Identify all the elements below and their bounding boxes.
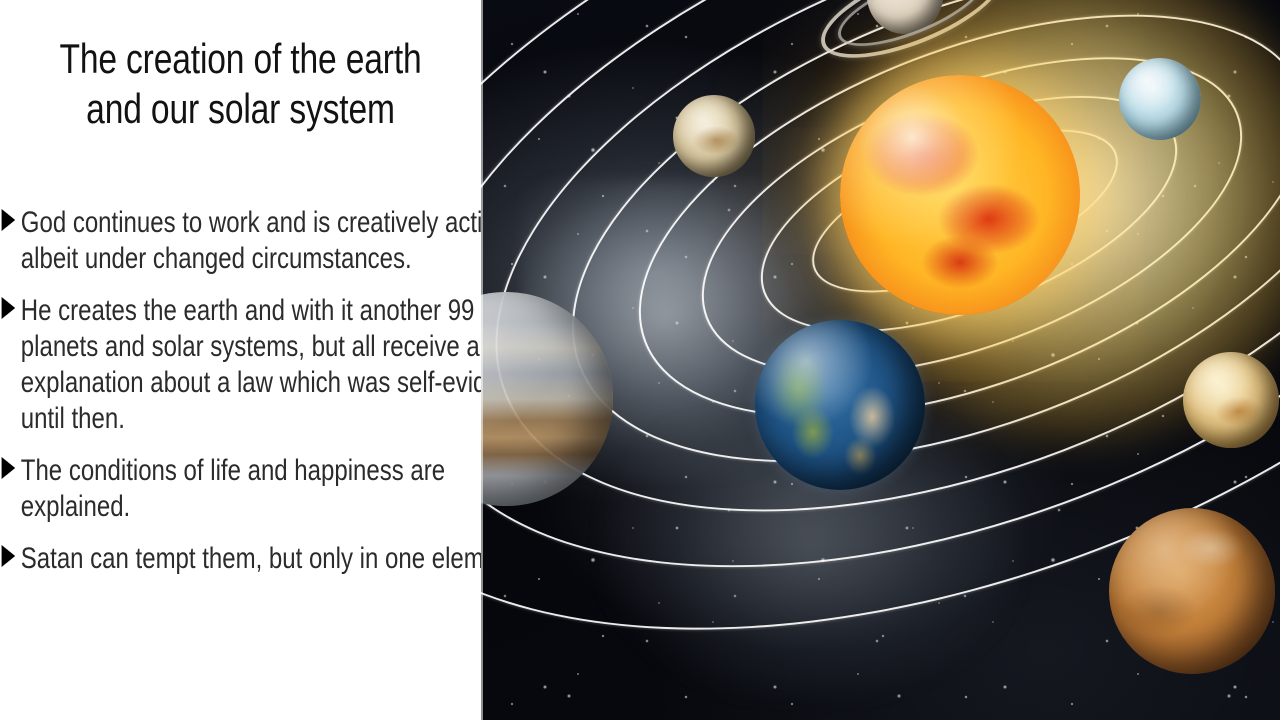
bullet-text-2: He creates the earth and with it another…: [21, 294, 481, 435]
bullet-item-1: God continues to work and is creatively …: [0, 205, 481, 277]
panel-left-edge: [481, 0, 483, 720]
planet-uranus: [1119, 58, 1201, 140]
solar-system-illustration: [481, 0, 1280, 720]
slide-title: The creation of the earth and our solar …: [48, 34, 433, 134]
bullet-text-3: The conditions of life and happiness are…: [21, 454, 445, 523]
triangle-bullet-icon: [2, 209, 16, 231]
bullet-item-3: The conditions of life and happiness are…: [0, 453, 481, 525]
slide-text-panel: The creation of the earth and our solar …: [0, 0, 481, 720]
bullet-item-4: Satan can tempt them, but only in one el…: [0, 541, 481, 577]
planet-mercury: [673, 95, 755, 177]
planet-venus: [1183, 352, 1279, 448]
planet-earth: [755, 320, 925, 490]
bullet-list: God continues to work and is creatively …: [0, 205, 481, 577]
presentation-slide: The creation of the earth and our solar …: [0, 0, 1280, 720]
triangle-bullet-icon: [2, 297, 16, 319]
bullet-text-4: Satan can tempt them, but only in one el…: [21, 542, 481, 575]
bullet-item-2: He creates the earth and with it another…: [0, 293, 481, 437]
triangle-bullet-icon: [2, 457, 16, 479]
sun: [840, 75, 1080, 315]
planet-mars: [1109, 508, 1275, 674]
bullet-text-1: God continues to work and is creatively …: [21, 206, 481, 275]
triangle-bullet-icon: [2, 545, 16, 567]
